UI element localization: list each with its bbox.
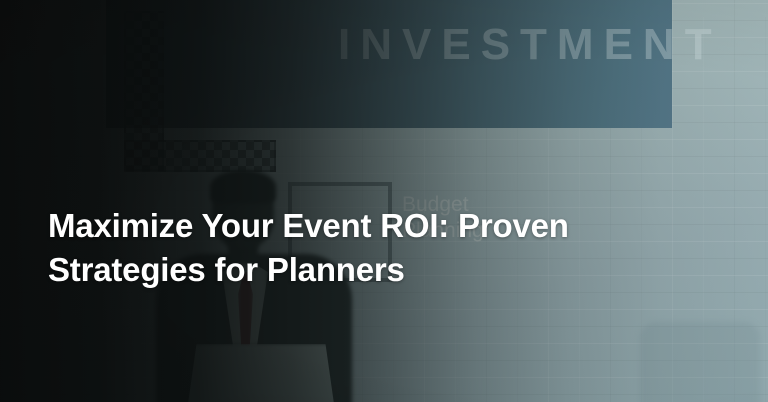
vignette-overlay	[0, 0, 768, 402]
blog-hero-banner: INVESTMENT Budget Planning Maximize Your…	[0, 0, 768, 402]
background-photo: INVESTMENT Budget Planning	[0, 0, 768, 402]
hero-headline: Maximize Your Event ROI: Proven Strategi…	[48, 204, 678, 292]
